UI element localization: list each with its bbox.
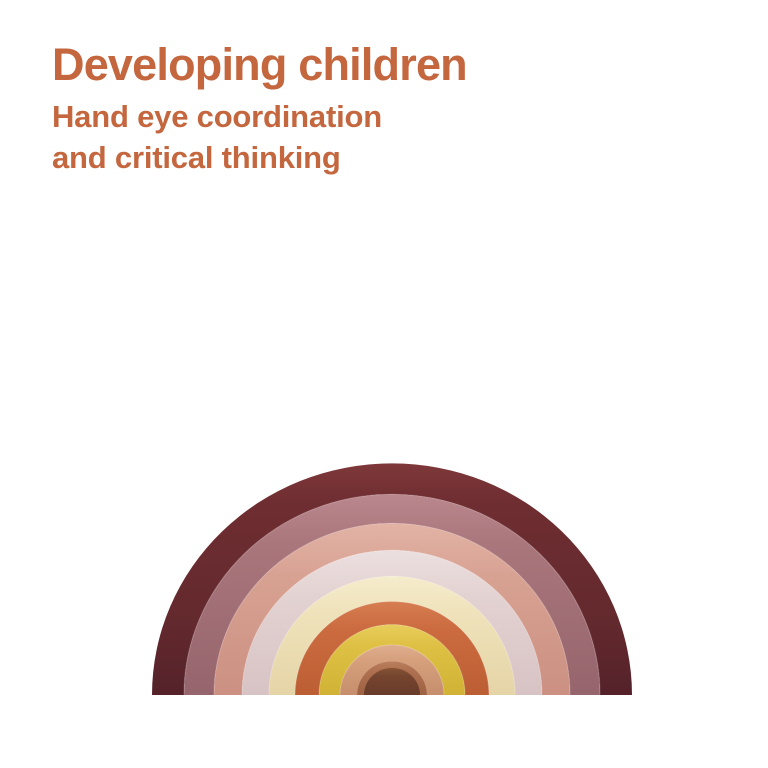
page-title: Developing children: [52, 42, 692, 89]
stacker-arch-medium-brown: [357, 661, 427, 695]
seam-highlight-2: [214, 523, 570, 695]
stacker-center-dark-brown: [364, 668, 420, 695]
stacker-arch-mauve: [184, 494, 600, 695]
seam-highlight-4: [269, 576, 515, 695]
seam-highlight-3: [242, 550, 542, 695]
stacker-arch-cream: [269, 576, 515, 695]
stacker-arch-peach-tan: [340, 645, 444, 695]
seam-highlight-1: [184, 494, 600, 695]
subtitle-line-1: Hand eye coordination: [52, 97, 692, 138]
stacker-arch-pale-lilac: [242, 550, 542, 695]
stacker-arch-terracotta: [295, 601, 489, 695]
marketing-text-block: Developing children Hand eye coordinatio…: [52, 42, 692, 179]
stacker-arch-maroon: [152, 463, 632, 695]
stacker-arch-golden-yellow: [319, 625, 465, 695]
page-root: Developing children Hand eye coordinatio…: [0, 0, 768, 768]
stacker-arch-dusty-pink: [214, 523, 570, 695]
seam-highlight-6: [319, 625, 465, 695]
stacker-arch-medium-brown-body: [357, 661, 427, 695]
seam-highlight-7: [340, 645, 444, 695]
seam-highlight-5: [295, 601, 489, 695]
subtitle-line-2: and critical thinking: [52, 138, 692, 179]
